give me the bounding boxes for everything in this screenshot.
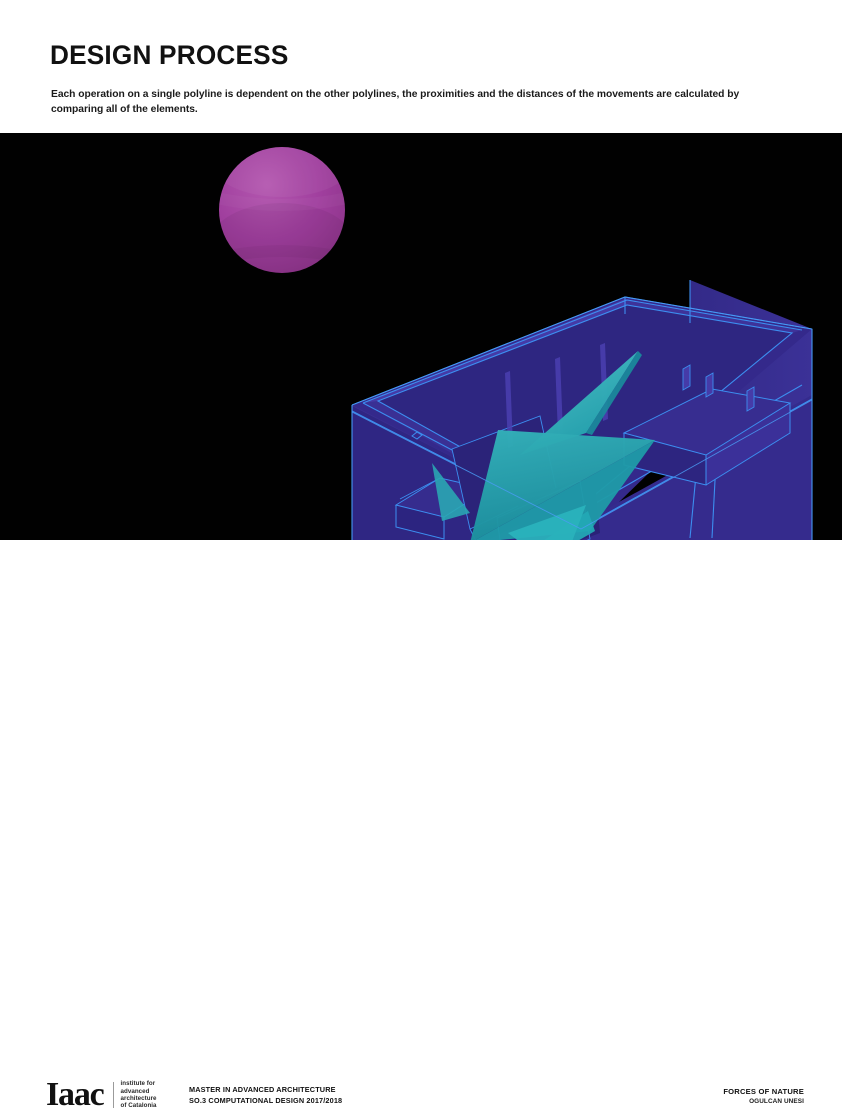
iaac-logo-subtitle: institute for advanced architecture of C…: [121, 1080, 157, 1110]
project-name: FORCES OF NATURE: [723, 1087, 804, 1097]
footer-course-info: MASTER IN ADVANCED ARCHITECTURE SO.3 COM…: [189, 1085, 342, 1106]
slide-header: DESIGN PROCESS Each operation on a singl…: [0, 0, 842, 133]
presentation-slide: DESIGN PROCESS Each operation on a singl…: [0, 0, 842, 595]
logo-divider: [113, 1082, 114, 1108]
page-title: DESIGN PROCESS: [50, 42, 288, 69]
iaac-logo-mark: Iaac: [46, 1078, 104, 1112]
iaac-logo: Iaac institute for advanced architecture…: [46, 1078, 157, 1112]
render-stage: [0, 133, 842, 540]
page-subtitle: Each operation on a single polyline is d…: [51, 87, 781, 117]
project-author: OGULCAN UNESI: [723, 1097, 804, 1106]
footer-project-info: FORCES OF NATURE OGULCAN UNESI: [723, 1087, 804, 1106]
three-d-render: [0, 133, 842, 540]
slide-footer: Iaac institute for advanced architecture…: [0, 540, 842, 595]
magenta-sphere: [210, 133, 354, 283]
